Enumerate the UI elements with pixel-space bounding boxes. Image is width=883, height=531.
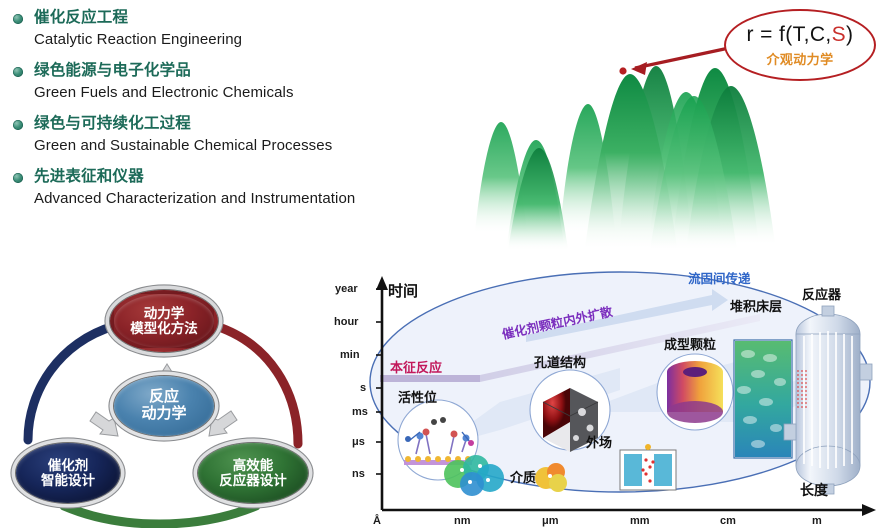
- direction-item-1: 催化反应工程 Catalytic Reaction Engineering: [8, 8, 438, 50]
- x-tick-um: μm: [542, 515, 559, 527]
- y-tick-ns: ns: [352, 468, 365, 480]
- x-tick-nm: nm: [454, 515, 471, 527]
- formula-subtitle: 介观动力学: [766, 49, 833, 68]
- filled-circle-bullet-icon: [13, 14, 23, 24]
- reaction-kinetics-cycle-diagram: 动力学 模型化方法 反应 动力学 催化剂 智能设计 高效能 反应器设计: [2, 268, 322, 528]
- x-tick-cm: cm: [720, 515, 736, 527]
- y-tick-s: s: [360, 382, 366, 394]
- x-tick-mm: mm: [630, 515, 650, 527]
- direction-title-en: Advanced Characterization and Instrument…: [34, 189, 438, 209]
- cycle-node-reactor-design[interactable]: 高效能 反应器设计: [198, 443, 308, 503]
- node-label-line1: 动力学: [144, 306, 185, 321]
- node-label-line1: 反应: [149, 389, 179, 406]
- direction-item-3: 绿色与可持续化工过程 Green and Sustainable Chemica…: [8, 114, 438, 156]
- direction-title-en: Green Fuels and Electronic Chemicals: [34, 83, 438, 103]
- direction-item-2: 绿色能源与电子化学品 Green Fuels and Electronic Ch…: [8, 61, 438, 103]
- cycle-node-catalyst-design[interactable]: 催化剂 智能设计: [16, 443, 120, 503]
- x-axis-title: 长度: [800, 480, 828, 500]
- node-label-line1: 催化剂: [48, 458, 89, 473]
- direction-title-en: Green and Sustainable Chemical Processes: [34, 136, 438, 156]
- label-reactor: 反应器: [802, 284, 841, 303]
- packed-bed-pellets-icon: [734, 340, 792, 458]
- arrow-center-to-right: [209, 411, 237, 436]
- formula-accent-variable: S: [832, 23, 846, 46]
- cycle-node-reaction-kinetics[interactable]: 反应 动力学: [114, 376, 214, 436]
- direction-title-cn: 绿色与可持续化工过程: [34, 114, 438, 133]
- y-tick-year: year: [335, 283, 358, 295]
- node-label-line2: 反应器设计: [219, 473, 287, 488]
- y-axis-title: 时间: [388, 280, 418, 301]
- node-label-line2: 动力学: [141, 406, 186, 423]
- direction-item-4: 先进表征和仪器 Advanced Characterization and In…: [8, 167, 438, 209]
- label-intrinsic-reaction: 本征反应: [390, 357, 442, 376]
- label-active-site: 活性位: [398, 387, 437, 406]
- label-fluid-solid-transfer: 流固间传递: [688, 268, 751, 287]
- node-label-line2: 智能设计: [41, 473, 95, 488]
- arc-bottom-green: [64, 506, 256, 524]
- shell-tube-reactor-icon: [784, 306, 872, 494]
- label-medium: 介质: [510, 467, 536, 486]
- external-field-plates-icon: [620, 444, 676, 490]
- formula-suffix: ): [846, 23, 853, 46]
- x-tick-m: m: [812, 515, 822, 527]
- formula-prefix: r = f(T,C,: [747, 23, 832, 46]
- direction-title-cn: 绿色能源与电子化学品: [34, 61, 438, 80]
- slide-root: 催化反应工程 Catalytic Reaction Engineering 绿色…: [0, 0, 883, 531]
- arrow-center-to-left: [90, 412, 118, 436]
- cycle-node-modeling-methods[interactable]: 动力学 模型化方法: [110, 290, 218, 352]
- y-tick-ms: ms: [352, 406, 368, 418]
- direction-title-cn: 催化反应工程: [34, 8, 438, 27]
- research-directions-list: 催化反应工程 Catalytic Reaction Engineering 绿色…: [8, 8, 438, 220]
- label-external-field: 外场: [586, 432, 612, 451]
- node-label-line2: 模型化方法: [130, 321, 198, 336]
- filled-circle-bullet-icon: [13, 67, 23, 77]
- direction-title-cn: 先进表征和仪器: [34, 167, 438, 186]
- red-dot-marker: [619, 67, 626, 74]
- y-tick-min: min: [340, 349, 360, 361]
- label-packed-bed: 堆积床层: [730, 296, 782, 315]
- y-axis-arrowhead: [376, 276, 388, 290]
- y-tick-hour: hour: [334, 316, 358, 328]
- intrinsic-band: [380, 375, 480, 382]
- shaped-particle-cylinder-icon: [657, 354, 733, 430]
- label-shaped-particle: 成型颗粒: [664, 334, 716, 353]
- multiscale-time-length-diagram: 时间 year hour min s ms μs ns Å nm μm mm c…: [330, 262, 883, 531]
- x-tick-angstrom: Å: [373, 515, 381, 527]
- formula-text: r = f(T,C,S): [747, 23, 854, 47]
- x-axis-arrowhead: [862, 504, 876, 516]
- y-tick-us: μs: [352, 436, 365, 448]
- filled-circle-bullet-icon: [13, 173, 23, 183]
- label-pore-structure: 孔道结构: [534, 352, 586, 371]
- direction-title-en: Catalytic Reaction Engineering: [34, 30, 438, 50]
- formula-callout-bubble: r = f(T,C,S) 介观动力学: [724, 9, 876, 81]
- node-label-line1: 高效能: [233, 458, 274, 473]
- filled-circle-bullet-icon: [13, 120, 23, 130]
